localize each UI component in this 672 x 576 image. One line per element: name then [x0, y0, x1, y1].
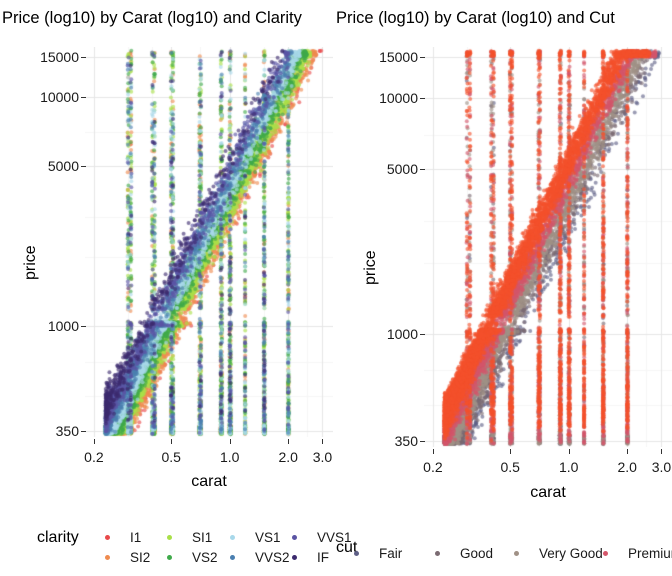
legend-swatch-icon	[435, 551, 440, 556]
y-tick-mark	[81, 431, 86, 432]
x-tick-mark	[288, 439, 289, 444]
y-tick-label: 5000	[9, 158, 79, 174]
legend-swatch-icon	[167, 555, 172, 560]
legend-cut-item[interactable]: Very Good	[514, 546, 603, 561]
x-tick-label: 0.2	[423, 459, 442, 475]
legend-clarity-item[interactable]: VS1	[230, 530, 281, 545]
legend-swatch-icon	[514, 551, 519, 556]
legend-swatch-icon	[354, 551, 359, 556]
x-tick-mark	[322, 439, 323, 444]
legend-swatch-icon	[292, 555, 297, 560]
y-tick-label: 350	[9, 423, 79, 439]
y-tick-label: 5000	[348, 161, 418, 177]
legend-swatch-icon	[230, 535, 235, 540]
y-tick-mark	[81, 166, 86, 167]
legend-swatch-icon	[230, 555, 235, 560]
legend-clarity-item[interactable]: VS2	[167, 550, 218, 565]
legend-label: IF	[317, 550, 329, 565]
x-tick-mark	[627, 449, 628, 454]
legend-swatch-icon	[603, 551, 608, 556]
legend-label: Fair	[379, 546, 402, 561]
y-tick-label: 10000	[348, 90, 418, 106]
x-tick-mark	[661, 449, 662, 454]
y-axis-title-cut: price	[362, 250, 380, 285]
x-tick-mark	[230, 439, 231, 444]
x-tick-mark	[433, 449, 434, 454]
legend-swatch-icon	[105, 535, 110, 540]
legend-clarity-item[interactable]: I1	[105, 530, 141, 545]
x-tick-mark	[171, 439, 172, 444]
legend-cut-item[interactable]: Fair	[354, 546, 402, 561]
legend-swatch-icon	[105, 555, 110, 560]
legend-label: Good	[460, 546, 493, 561]
legend-cut-item[interactable]: Premium	[603, 546, 672, 561]
x-tick-label: 0.5	[500, 459, 519, 475]
x-tick-label: 0.5	[161, 449, 180, 465]
legend-label: Very Good	[539, 546, 603, 561]
legend-label: SI2	[130, 550, 150, 565]
y-tick-mark	[420, 441, 425, 442]
legend-clarity-item[interactable]: SI2	[105, 550, 150, 565]
legend-swatch-icon	[292, 535, 297, 540]
figure-root: Price (log10) by Carat (log10) and Clari…	[0, 0, 672, 576]
x-axis-title-cut: carat	[530, 484, 566, 502]
plot-title-clarity: Price (log10) by Carat (log10) and Clari…	[2, 8, 302, 28]
y-tick-mark	[420, 57, 425, 58]
legend-label: I1	[130, 530, 141, 545]
scatter-panel-clarity	[85, 47, 333, 437]
scatter-canvas-clarity	[85, 47, 333, 437]
y-tick-mark	[420, 334, 425, 335]
legend-swatch-icon	[167, 535, 172, 540]
y-tick-label: 10000	[9, 89, 79, 105]
x-tick-label: 3.0	[652, 459, 671, 475]
x-tick-label: 0.2	[84, 449, 103, 465]
y-tick-mark	[81, 326, 86, 327]
x-tick-mark	[94, 439, 95, 444]
y-tick-mark	[420, 169, 425, 170]
x-tick-mark	[569, 449, 570, 454]
y-tick-label: 350	[348, 433, 418, 449]
y-tick-label: 15000	[9, 49, 79, 65]
legend-label: SI1	[192, 530, 212, 545]
x-tick-label: 1.0	[559, 459, 578, 475]
legend-label: Premium	[628, 546, 672, 561]
y-tick-label: 1000	[348, 326, 418, 342]
legend-label: VVS2	[255, 550, 290, 565]
scatter-panel-cut	[424, 47, 672, 447]
x-tick-mark	[510, 449, 511, 454]
x-tick-label: 1.0	[220, 449, 239, 465]
scatter-canvas-cut	[424, 47, 672, 447]
y-tick-label: 15000	[348, 49, 418, 65]
y-tick-mark	[420, 98, 425, 99]
legend-clarity-item[interactable]: VVS2	[230, 550, 290, 565]
legend-label: VS1	[255, 530, 281, 545]
plot-title-cut: Price (log10) by Carat (log10) and Cut	[336, 8, 615, 28]
x-tick-label: 2.0	[278, 449, 297, 465]
x-tick-label: 3.0	[313, 449, 332, 465]
legend-clarity-item[interactable]: IF	[292, 550, 329, 565]
y-tick-label: 1000	[9, 318, 79, 334]
legend-title-clarity: clarity	[37, 529, 79, 547]
y-axis-title-clarity: price	[22, 245, 40, 280]
legend-cut-item[interactable]: Good	[435, 546, 493, 561]
legend-label: VS2	[192, 550, 218, 565]
y-tick-mark	[81, 57, 86, 58]
legend-clarity-item[interactable]: SI1	[167, 530, 212, 545]
y-tick-mark	[81, 97, 86, 98]
x-axis-title-clarity: carat	[191, 473, 227, 491]
x-tick-label: 2.0	[617, 459, 636, 475]
